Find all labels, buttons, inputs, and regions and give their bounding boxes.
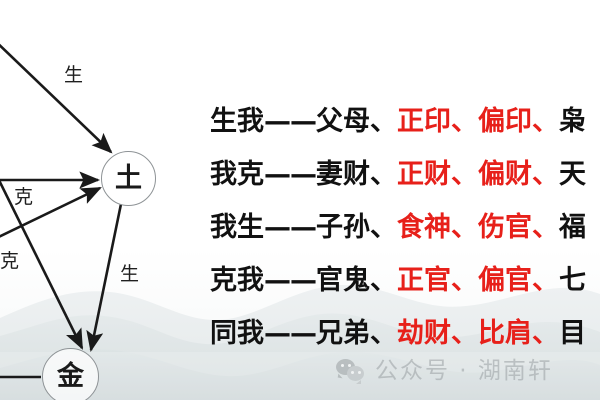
relation-term: 生我 [210, 108, 264, 135]
relation-clipped: 天 [559, 161, 586, 188]
wechat-icon [336, 358, 366, 384]
edge-label-sheng-top: 生 [64, 66, 83, 85]
relation-gods: 食神、伤官、 [397, 214, 559, 241]
node-tu-label: 土 [115, 165, 142, 192]
relation-dash: —— [264, 320, 316, 347]
relation-kin: 妻财、 [316, 161, 397, 188]
node-jin-label: 金 [57, 363, 84, 390]
relation-clipped: 目 [559, 320, 586, 347]
relation-kin: 父母、 [316, 108, 397, 135]
relation-kin: 官鬼、 [316, 267, 397, 294]
node-tu: 土 [101, 151, 156, 206]
relation-row: 我克 —— 妻财、 正财、偏财、 天 [210, 148, 600, 201]
edge-label-ke-lower: 克 [0, 252, 19, 271]
relation-row: 同我 —— 兄弟、 劫财、比肩、 目 [210, 307, 600, 360]
node-jin: 金 [42, 348, 99, 400]
five-elements-diagram: 土 金 生 克 克 生 [0, 0, 230, 400]
relation-dash: —— [264, 161, 316, 188]
relation-dash: —— [264, 214, 316, 241]
relation-term: 克我 [210, 267, 264, 294]
relation-clipped: 福 [559, 214, 586, 241]
relation-row: 生我 —— 父母、 正印、偏印、 枭 [210, 95, 600, 148]
relation-term: 我克 [210, 161, 264, 188]
relation-row: 克我 —— 官鬼、 正官、偏官、 七 [210, 254, 600, 307]
screenshot-root: 土 金 生 克 克 生 生我 —— 父母、 正印、偏印、 枭 我克 —— 妻财、… [0, 0, 600, 400]
relation-gods: 正财、偏财、 [397, 161, 559, 188]
watermark-text: 公众号 · 湖南轩 [375, 360, 553, 383]
edge-label-ke-upper: 克 [14, 188, 33, 207]
ten-gods-relation-list: 生我 —— 父母、 正印、偏印、 枭 我克 —— 妻财、 正财、偏财、 天 我生… [210, 95, 600, 360]
relation-term: 同我 [210, 320, 264, 347]
relation-kin: 子孙、 [316, 214, 397, 241]
relation-term: 我生 [210, 214, 264, 241]
watermark: 公众号 · 湖南轩 [336, 358, 553, 384]
relation-clipped: 枭 [559, 108, 586, 135]
relation-dash: —— [264, 108, 316, 135]
relation-clipped: 七 [559, 267, 586, 294]
edge-label-sheng-mid: 生 [120, 265, 139, 284]
relation-gods: 正官、偏官、 [397, 267, 559, 294]
relation-gods: 劫财、比肩、 [397, 320, 559, 347]
relation-kin: 兄弟、 [316, 320, 397, 347]
relation-gods: 正印、偏印、 [397, 108, 559, 135]
relation-row: 我生 —— 子孙、 食神、伤官、 福 [210, 201, 600, 254]
relation-dash: —— [264, 267, 316, 294]
